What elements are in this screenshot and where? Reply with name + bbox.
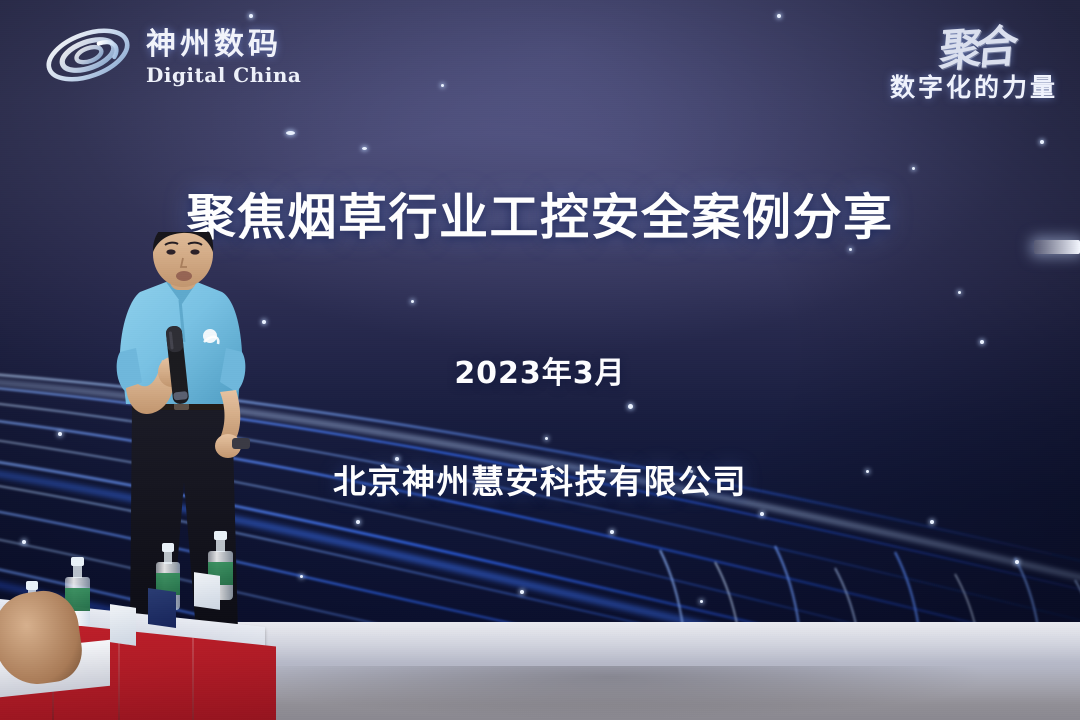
presenter-clicker bbox=[232, 438, 250, 449]
event-calligraphy: 聚合 bbox=[937, 10, 1015, 80]
name-card bbox=[148, 588, 176, 628]
name-card bbox=[110, 604, 136, 646]
name-card bbox=[194, 572, 220, 610]
brand-name-en: Digital China bbox=[146, 65, 301, 85]
brand-name-cn: 神州数码 bbox=[146, 30, 301, 60]
digital-china-swirl-icon bbox=[42, 18, 134, 92]
event-mark: 聚合 数字化的力量 bbox=[798, 16, 1058, 116]
floor-shadow bbox=[230, 666, 990, 720]
edge-light-bar bbox=[1034, 240, 1080, 254]
stage-photo: 神州数码 Digital China 聚合 数字化的力量 聚焦烟草行业工控安全案… bbox=[0, 0, 1080, 720]
digital-china-logo: 神州数码 Digital China bbox=[42, 18, 301, 92]
